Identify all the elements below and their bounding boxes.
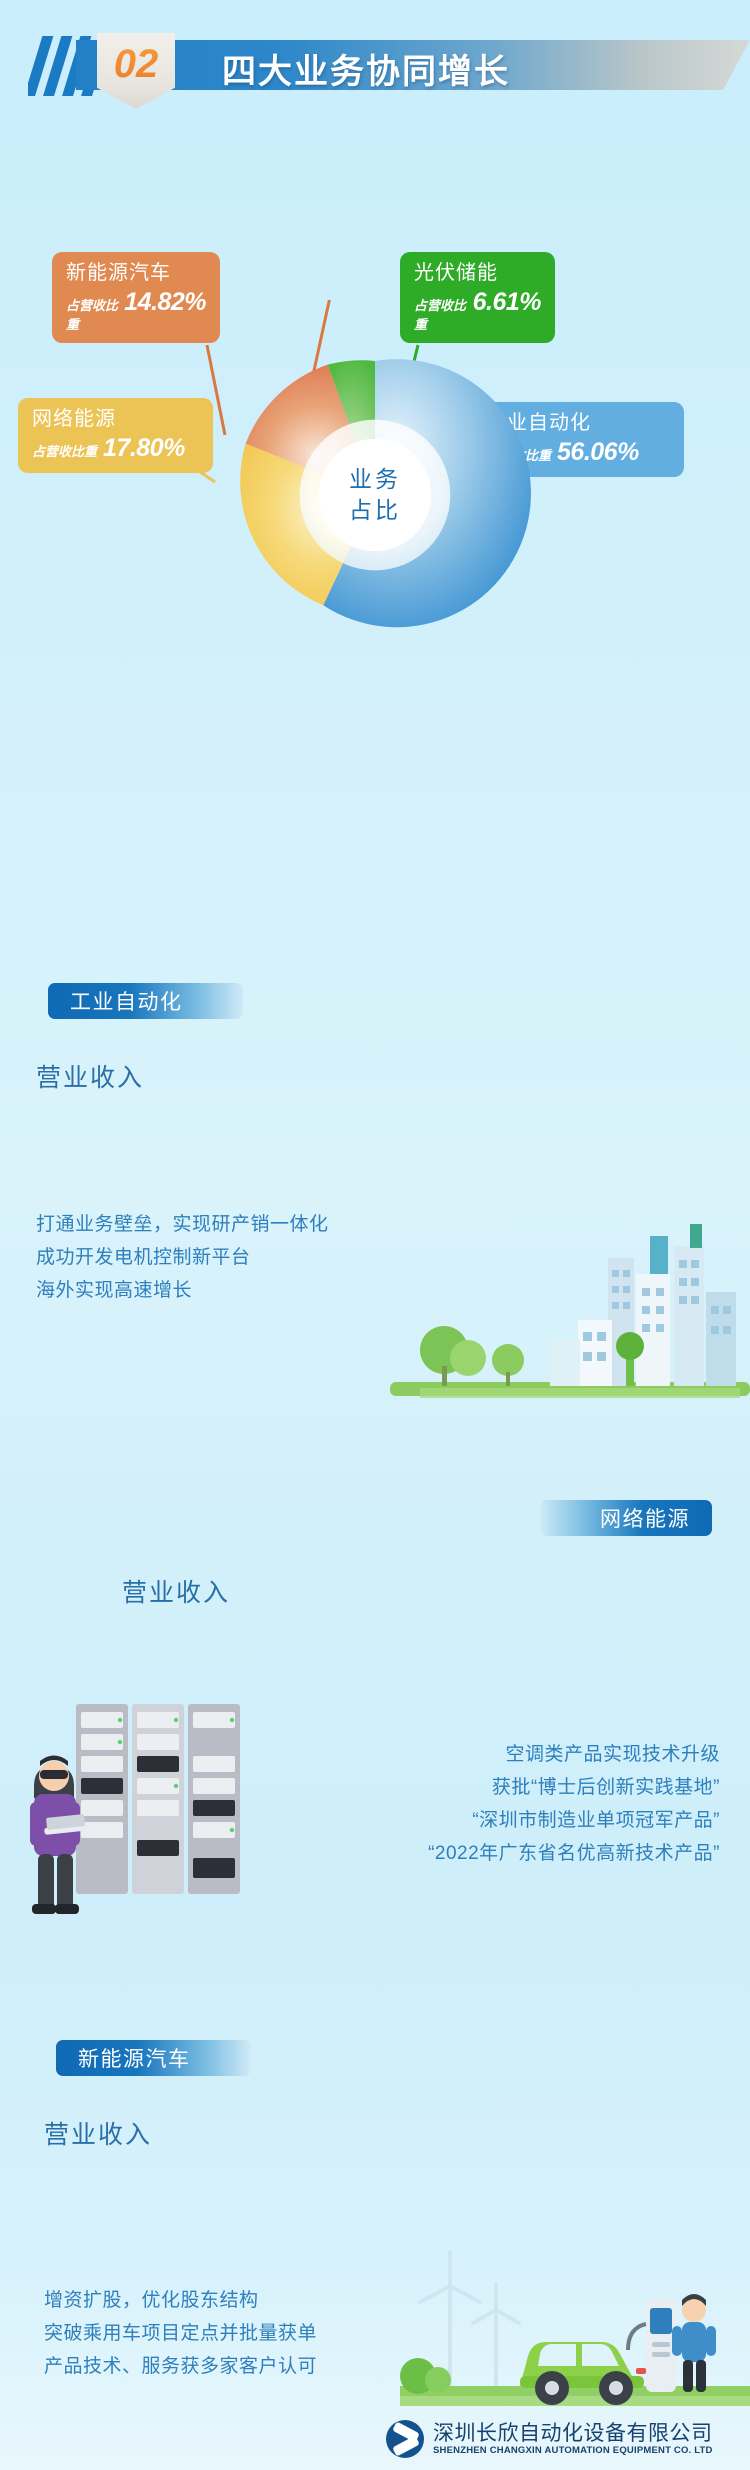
callout-new-energy-vehicle[interactable]: 新能源汽车 占营收比重 14.82% — [52, 252, 220, 343]
section-line: 打通业务壁垒，实现研产销一体化 — [36, 1208, 329, 1241]
server-room-illustration — [10, 1690, 290, 1930]
footer-company-logo: 深圳长欣自动化设备有限公司 SHENZHEN CHANGXIN AUTOMATI… — [386, 2420, 713, 2458]
section-body-network-energy: 空调类产品实现技术升级 获批“博士后创新实践基地” “深圳市制造业单项冠军产品”… — [428, 1738, 720, 1870]
section-body-new-energy-vehicle: 增资扩股，优化股东结构 突破乘用车项目定点并批量获单 产品技术、服务获多家客户认… — [44, 2284, 317, 2383]
section-number-badge: 02 — [97, 33, 175, 109]
company-name-cn: 深圳长欣自动化设备有限公司 — [433, 2423, 713, 2445]
section-badge-industrial-automation[interactable]: 工业自动化 — [48, 983, 243, 1019]
callout-name: 新能源汽车 — [66, 261, 206, 286]
section-line: “深圳市制造业单项冠军产品” — [428, 1804, 720, 1837]
section-line: 突破乘用车项目定点并批量获单 — [44, 2317, 317, 2350]
section-line: 获批“博士后创新实践基地” — [428, 1771, 720, 1804]
section-badge-label: 网络能源 — [600, 1503, 690, 1533]
section-line: 成功开发电机控制新平台 — [36, 1241, 329, 1274]
section-line: 海外实现高速增长 — [36, 1274, 329, 1307]
donut-hole — [319, 439, 431, 551]
callout-photovoltaic-storage[interactable]: 光伏储能 占营收比重 6.61% — [400, 252, 555, 343]
callout-prefix: 占营收比重 — [32, 441, 97, 460]
callout-value: 6.61% — [473, 288, 541, 317]
section-badge-network-energy[interactable]: 网络能源 — [540, 1500, 712, 1536]
revenue-label-network-energy: 营业收入 — [122, 1573, 230, 1609]
page-header: 02 四大业务协同增长 — [0, 34, 750, 96]
section-line: “2022年广东省名优高新技术产品” — [428, 1837, 720, 1870]
company-logo-mark-icon — [386, 2420, 424, 2458]
ev-charging-illustration — [400, 2190, 750, 2430]
callout-prefix: 占营收比重 — [66, 295, 118, 333]
donut-svg — [140, 345, 610, 645]
section-badge-label: 新能源汽车 — [78, 2043, 191, 2073]
section-badge-label: 工业自动化 — [70, 986, 183, 1016]
section-line: 产品技术、服务获多家客户认可 — [44, 2350, 317, 2383]
section-line: 增资扩股，优化股东结构 — [44, 2284, 317, 2317]
revenue-label-industrial-automation: 营业收入 — [36, 1058, 144, 1094]
revenue-label-new-energy-vehicle: 营业收入 — [44, 2115, 152, 2151]
page-title: 四大业务协同增长 — [222, 44, 510, 93]
section-number: 02 — [97, 33, 175, 95]
callout-value: 14.82% — [124, 288, 206, 317]
factory-city-illustration — [390, 1200, 750, 1420]
callout-name: 光伏储能 — [414, 261, 541, 286]
section-body-industrial-automation: 打通业务壁垒，实现研产销一体化 成功开发电机控制新平台 海外实现高速增长 — [36, 1208, 329, 1307]
business-share-donut-chart: 业务 占比 — [140, 345, 610, 645]
section-badge-new-energy-vehicle[interactable]: 新能源汽车 — [56, 2040, 251, 2076]
callout-prefix: 占营收比重 — [414, 295, 467, 333]
company-name-en: SHENZHEN CHANGXIN AUTOMATION EQUIPMENT C… — [433, 2445, 713, 2456]
section-line: 空调类产品实现技术升级 — [428, 1738, 720, 1771]
